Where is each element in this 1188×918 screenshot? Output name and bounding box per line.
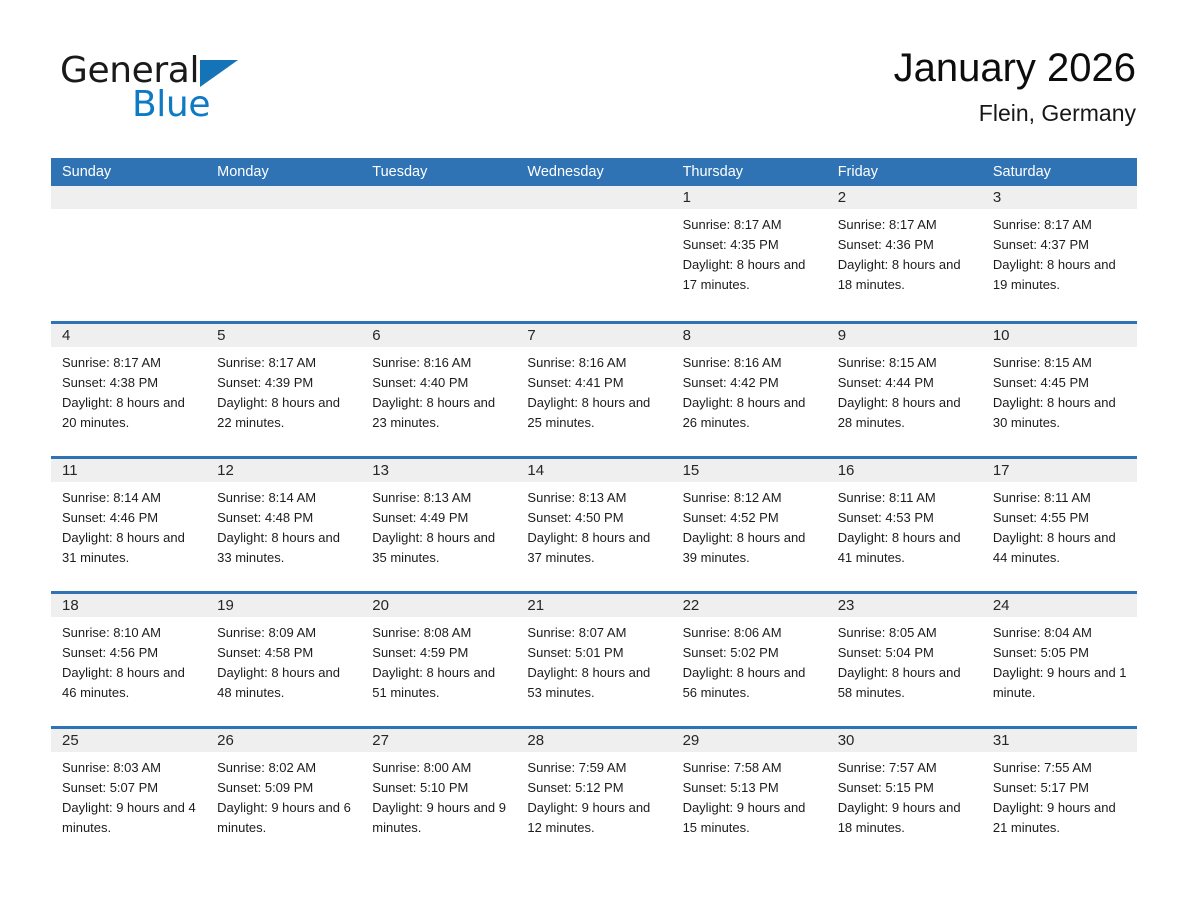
calendar-day-cell-empty bbox=[206, 186, 361, 321]
sunset-text: Sunset: 4:36 PM bbox=[838, 235, 974, 255]
day-number: 20 bbox=[361, 594, 516, 617]
daylight-text: Daylight: 8 hours and 39 minutes. bbox=[683, 528, 819, 568]
day-number: 12 bbox=[206, 459, 361, 482]
daylight-text: Daylight: 9 hours and 9 minutes. bbox=[372, 798, 508, 838]
day-details: Sunrise: 8:14 AMSunset: 4:48 PMDaylight:… bbox=[206, 482, 361, 568]
sunrise-text: Sunrise: 8:14 AM bbox=[217, 488, 353, 508]
sunrise-text: Sunrise: 8:00 AM bbox=[372, 758, 508, 778]
daylight-text: Daylight: 8 hours and 56 minutes. bbox=[683, 663, 819, 703]
day-number: 28 bbox=[516, 729, 671, 752]
day-details: Sunrise: 8:14 AMSunset: 4:46 PMDaylight:… bbox=[51, 482, 206, 568]
daylight-text: Daylight: 8 hours and 23 minutes. bbox=[372, 393, 508, 433]
sunset-text: Sunset: 4:42 PM bbox=[683, 373, 819, 393]
sunrise-text: Sunrise: 8:16 AM bbox=[683, 353, 819, 373]
day-number: 14 bbox=[516, 459, 671, 482]
sunset-text: Sunset: 5:09 PM bbox=[217, 778, 353, 798]
calendar-day-cell[interactable]: 6Sunrise: 8:16 AMSunset: 4:40 PMDaylight… bbox=[361, 324, 516, 456]
day-details: Sunrise: 7:55 AMSunset: 5:17 PMDaylight:… bbox=[982, 752, 1137, 838]
sunrise-text: Sunrise: 8:15 AM bbox=[838, 353, 974, 373]
sunset-text: Sunset: 4:40 PM bbox=[372, 373, 508, 393]
day-number: 8 bbox=[672, 324, 827, 347]
day-number: 4 bbox=[51, 324, 206, 347]
weekday-header-friday: Friday bbox=[827, 158, 982, 186]
day-number: 23 bbox=[827, 594, 982, 617]
sunset-text: Sunset: 5:04 PM bbox=[838, 643, 974, 663]
sunrise-text: Sunrise: 8:14 AM bbox=[62, 488, 198, 508]
sunset-text: Sunset: 5:07 PM bbox=[62, 778, 198, 798]
calendar-day-cell[interactable]: 11Sunrise: 8:14 AMSunset: 4:46 PMDayligh… bbox=[51, 459, 206, 591]
daylight-text: Daylight: 9 hours and 4 minutes. bbox=[62, 798, 198, 838]
weekday-header-wednesday: Wednesday bbox=[516, 158, 671, 186]
sunrise-text: Sunrise: 8:17 AM bbox=[993, 215, 1129, 235]
calendar-week-row: 11Sunrise: 8:14 AMSunset: 4:46 PMDayligh… bbox=[51, 456, 1137, 591]
daylight-text: Daylight: 8 hours and 28 minutes. bbox=[838, 393, 974, 433]
daylight-text: Daylight: 8 hours and 30 minutes. bbox=[993, 393, 1129, 433]
day-details: Sunrise: 8:15 AMSunset: 4:45 PMDaylight:… bbox=[982, 347, 1137, 433]
title-block: January 2026 Flein, Germany bbox=[894, 44, 1136, 127]
weekday-header-sunday: Sunday bbox=[51, 158, 206, 186]
daylight-text: Daylight: 8 hours and 51 minutes. bbox=[372, 663, 508, 703]
sunset-text: Sunset: 5:17 PM bbox=[993, 778, 1129, 798]
day-number: 27 bbox=[361, 729, 516, 752]
sunrise-text: Sunrise: 7:59 AM bbox=[527, 758, 663, 778]
calendar-day-cell[interactable]: 7Sunrise: 8:16 AMSunset: 4:41 PMDaylight… bbox=[516, 324, 671, 456]
day-details: Sunrise: 8:16 AMSunset: 4:40 PMDaylight:… bbox=[361, 347, 516, 433]
calendar-day-cell[interactable]: 31Sunrise: 7:55 AMSunset: 5:17 PMDayligh… bbox=[982, 729, 1137, 861]
daylight-text: Daylight: 9 hours and 21 minutes. bbox=[993, 798, 1129, 838]
page-header: General Blue January 2026 Flein, Germany bbox=[52, 44, 1136, 144]
day-number: 2 bbox=[827, 186, 982, 209]
daylight-text: Daylight: 8 hours and 22 minutes. bbox=[217, 393, 353, 433]
sunrise-text: Sunrise: 8:03 AM bbox=[62, 758, 198, 778]
sunrise-text: Sunrise: 8:15 AM bbox=[993, 353, 1129, 373]
calendar-day-cell-empty bbox=[361, 186, 516, 321]
sunrise-text: Sunrise: 7:58 AM bbox=[683, 758, 819, 778]
calendar-day-cell[interactable]: 26Sunrise: 8:02 AMSunset: 5:09 PMDayligh… bbox=[206, 729, 361, 861]
calendar-day-cell[interactable]: 23Sunrise: 8:05 AMSunset: 5:04 PMDayligh… bbox=[827, 594, 982, 726]
calendar-day-cell[interactable]: 29Sunrise: 7:58 AMSunset: 5:13 PMDayligh… bbox=[672, 729, 827, 861]
calendar-day-cell[interactable]: 12Sunrise: 8:14 AMSunset: 4:48 PMDayligh… bbox=[206, 459, 361, 591]
sunrise-text: Sunrise: 8:11 AM bbox=[838, 488, 974, 508]
sunset-text: Sunset: 5:15 PM bbox=[838, 778, 974, 798]
day-number: 19 bbox=[206, 594, 361, 617]
daylight-text: Daylight: 8 hours and 48 minutes. bbox=[217, 663, 353, 703]
sunrise-text: Sunrise: 8:16 AM bbox=[527, 353, 663, 373]
day-number: 9 bbox=[827, 324, 982, 347]
calendar-day-cell[interactable]: 22Sunrise: 8:06 AMSunset: 5:02 PMDayligh… bbox=[672, 594, 827, 726]
calendar-day-cell[interactable]: 18Sunrise: 8:10 AMSunset: 4:56 PMDayligh… bbox=[51, 594, 206, 726]
day-number: 26 bbox=[206, 729, 361, 752]
sunrise-text: Sunrise: 8:04 AM bbox=[993, 623, 1129, 643]
day-details: Sunrise: 7:59 AMSunset: 5:12 PMDaylight:… bbox=[516, 752, 671, 838]
page-title: January 2026 bbox=[894, 44, 1136, 92]
daylight-text: Daylight: 9 hours and 15 minutes. bbox=[683, 798, 819, 838]
day-details: Sunrise: 8:05 AMSunset: 5:04 PMDaylight:… bbox=[827, 617, 982, 703]
day-number: 30 bbox=[827, 729, 982, 752]
daylight-text: Daylight: 9 hours and 12 minutes. bbox=[527, 798, 663, 838]
day-number: 24 bbox=[982, 594, 1137, 617]
day-number: 6 bbox=[361, 324, 516, 347]
calendar-day-cell[interactable]: 10Sunrise: 8:15 AMSunset: 4:45 PMDayligh… bbox=[982, 324, 1137, 456]
day-details: Sunrise: 8:17 AMSunset: 4:35 PMDaylight:… bbox=[672, 209, 827, 295]
daylight-text: Daylight: 8 hours and 26 minutes. bbox=[683, 393, 819, 433]
day-number: 7 bbox=[516, 324, 671, 347]
calendar-day-cell[interactable]: 25Sunrise: 8:03 AMSunset: 5:07 PMDayligh… bbox=[51, 729, 206, 861]
calendar-day-cell[interactable]: 9Sunrise: 8:15 AMSunset: 4:44 PMDaylight… bbox=[827, 324, 982, 456]
sunset-text: Sunset: 5:13 PM bbox=[683, 778, 819, 798]
calendar-day-cell-empty bbox=[516, 186, 671, 321]
sunset-text: Sunset: 4:58 PM bbox=[217, 643, 353, 663]
day-details: Sunrise: 8:17 AMSunset: 4:38 PMDaylight:… bbox=[51, 347, 206, 433]
sunrise-text: Sunrise: 8:17 AM bbox=[217, 353, 353, 373]
daylight-text: Daylight: 8 hours and 46 minutes. bbox=[62, 663, 198, 703]
weekday-header-monday: Monday bbox=[206, 158, 361, 186]
sunrise-text: Sunrise: 7:57 AM bbox=[838, 758, 974, 778]
calendar-day-cell[interactable]: 2Sunrise: 8:17 AMSunset: 4:36 PMDaylight… bbox=[827, 186, 982, 321]
sunset-text: Sunset: 5:02 PM bbox=[683, 643, 819, 663]
sunrise-text: Sunrise: 8:13 AM bbox=[527, 488, 663, 508]
day-details: Sunrise: 8:04 AMSunset: 5:05 PMDaylight:… bbox=[982, 617, 1137, 703]
day-details: Sunrise: 8:13 AMSunset: 4:49 PMDaylight:… bbox=[361, 482, 516, 568]
day-number: 18 bbox=[51, 594, 206, 617]
day-number: 31 bbox=[982, 729, 1137, 752]
sunrise-text: Sunrise: 8:06 AM bbox=[683, 623, 819, 643]
day-number bbox=[51, 186, 206, 209]
day-details: Sunrise: 8:02 AMSunset: 5:09 PMDaylight:… bbox=[206, 752, 361, 838]
daylight-text: Daylight: 8 hours and 35 minutes. bbox=[372, 528, 508, 568]
sunset-text: Sunset: 5:05 PM bbox=[993, 643, 1129, 663]
day-details: Sunrise: 8:11 AMSunset: 4:55 PMDaylight:… bbox=[982, 482, 1137, 568]
sunset-text: Sunset: 4:44 PM bbox=[838, 373, 974, 393]
calendar-day-cell[interactable]: 14Sunrise: 8:13 AMSunset: 4:50 PMDayligh… bbox=[516, 459, 671, 591]
day-number: 25 bbox=[51, 729, 206, 752]
weekday-header-thursday: Thursday bbox=[672, 158, 827, 186]
day-number: 13 bbox=[361, 459, 516, 482]
sunset-text: Sunset: 4:46 PM bbox=[62, 508, 198, 528]
logo-triangle-icon bbox=[200, 60, 238, 87]
daylight-text: Daylight: 8 hours and 31 minutes. bbox=[62, 528, 198, 568]
day-number: 5 bbox=[206, 324, 361, 347]
daylight-text: Daylight: 8 hours and 37 minutes. bbox=[527, 528, 663, 568]
weekday-header-tuesday: Tuesday bbox=[361, 158, 516, 186]
sunset-text: Sunset: 4:39 PM bbox=[217, 373, 353, 393]
day-number: 21 bbox=[516, 594, 671, 617]
calendar-day-cell[interactable]: 20Sunrise: 8:08 AMSunset: 4:59 PMDayligh… bbox=[361, 594, 516, 726]
day-number: 22 bbox=[672, 594, 827, 617]
calendar-day-cell[interactable]: 28Sunrise: 7:59 AMSunset: 5:12 PMDayligh… bbox=[516, 729, 671, 861]
calendar-day-cell[interactable]: 3Sunrise: 8:17 AMSunset: 4:37 PMDaylight… bbox=[982, 186, 1137, 321]
sunset-text: Sunset: 5:12 PM bbox=[527, 778, 663, 798]
logo-text-blue: Blue bbox=[132, 86, 210, 124]
sunrise-text: Sunrise: 8:10 AM bbox=[62, 623, 198, 643]
sunset-text: Sunset: 4:55 PM bbox=[993, 508, 1129, 528]
sunrise-text: Sunrise: 8:07 AM bbox=[527, 623, 663, 643]
sunrise-text: Sunrise: 8:11 AM bbox=[993, 488, 1129, 508]
daylight-text: Daylight: 9 hours and 18 minutes. bbox=[838, 798, 974, 838]
sunset-text: Sunset: 4:50 PM bbox=[527, 508, 663, 528]
day-details: Sunrise: 8:10 AMSunset: 4:56 PMDaylight:… bbox=[51, 617, 206, 703]
calendar-day-cell[interactable]: 16Sunrise: 8:11 AMSunset: 4:53 PMDayligh… bbox=[827, 459, 982, 591]
day-details: Sunrise: 8:03 AMSunset: 5:07 PMDaylight:… bbox=[51, 752, 206, 838]
sunset-text: Sunset: 4:38 PM bbox=[62, 373, 198, 393]
daylight-text: Daylight: 8 hours and 18 minutes. bbox=[838, 255, 974, 295]
day-number: 11 bbox=[51, 459, 206, 482]
day-details: Sunrise: 8:15 AMSunset: 4:44 PMDaylight:… bbox=[827, 347, 982, 433]
sunset-text: Sunset: 4:56 PM bbox=[62, 643, 198, 663]
day-details: Sunrise: 8:09 AMSunset: 4:58 PMDaylight:… bbox=[206, 617, 361, 703]
calendar-day-cell[interactable]: 21Sunrise: 8:07 AMSunset: 5:01 PMDayligh… bbox=[516, 594, 671, 726]
sunset-text: Sunset: 4:49 PM bbox=[372, 508, 508, 528]
sunrise-text: Sunrise: 7:55 AM bbox=[993, 758, 1129, 778]
day-details: Sunrise: 8:16 AMSunset: 4:42 PMDaylight:… bbox=[672, 347, 827, 433]
day-details: Sunrise: 7:57 AMSunset: 5:15 PMDaylight:… bbox=[827, 752, 982, 838]
calendar-weeks: 1Sunrise: 8:17 AMSunset: 4:35 PMDaylight… bbox=[51, 186, 1137, 861]
day-details: Sunrise: 8:17 AMSunset: 4:36 PMDaylight:… bbox=[827, 209, 982, 295]
calendar-day-cell[interactable]: 4Sunrise: 8:17 AMSunset: 4:38 PMDaylight… bbox=[51, 324, 206, 456]
sunrise-text: Sunrise: 8:13 AM bbox=[372, 488, 508, 508]
weekday-header-saturday: Saturday bbox=[982, 158, 1137, 186]
sunset-text: Sunset: 4:53 PM bbox=[838, 508, 974, 528]
sunrise-text: Sunrise: 8:08 AM bbox=[372, 623, 508, 643]
calendar-day-cell[interactable]: 8Sunrise: 8:16 AMSunset: 4:42 PMDaylight… bbox=[672, 324, 827, 456]
day-number: 10 bbox=[982, 324, 1137, 347]
weekday-header-row: Sunday Monday Tuesday Wednesday Thursday… bbox=[51, 158, 1137, 186]
sunrise-text: Sunrise: 8:02 AM bbox=[217, 758, 353, 778]
calendar-day-cell[interactable]: 19Sunrise: 8:09 AMSunset: 4:58 PMDayligh… bbox=[206, 594, 361, 726]
calendar-day-cell[interactable]: 17Sunrise: 8:11 AMSunset: 4:55 PMDayligh… bbox=[982, 459, 1137, 591]
day-number bbox=[361, 186, 516, 209]
sunrise-text: Sunrise: 8:17 AM bbox=[62, 353, 198, 373]
day-number: 17 bbox=[982, 459, 1137, 482]
calendar-day-cell-empty bbox=[51, 186, 206, 321]
generalblue-logo[interactable]: General Blue bbox=[52, 52, 312, 134]
sunset-text: Sunset: 4:48 PM bbox=[217, 508, 353, 528]
calendar-week-row: 18Sunrise: 8:10 AMSunset: 4:56 PMDayligh… bbox=[51, 591, 1137, 726]
day-number: 1 bbox=[672, 186, 827, 209]
day-number: 29 bbox=[672, 729, 827, 752]
calendar-week-row: 4Sunrise: 8:17 AMSunset: 4:38 PMDaylight… bbox=[51, 321, 1137, 456]
day-details: Sunrise: 8:00 AMSunset: 5:10 PMDaylight:… bbox=[361, 752, 516, 838]
calendar-day-cell[interactable]: 24Sunrise: 8:04 AMSunset: 5:05 PMDayligh… bbox=[982, 594, 1137, 726]
daylight-text: Daylight: 8 hours and 44 minutes. bbox=[993, 528, 1129, 568]
location-subtitle: Flein, Germany bbox=[894, 100, 1136, 127]
day-details: Sunrise: 8:17 AMSunset: 4:37 PMDaylight:… bbox=[982, 209, 1137, 295]
daylight-text: Daylight: 8 hours and 58 minutes. bbox=[838, 663, 974, 703]
day-details: Sunrise: 8:11 AMSunset: 4:53 PMDaylight:… bbox=[827, 482, 982, 568]
day-details: Sunrise: 8:12 AMSunset: 4:52 PMDaylight:… bbox=[672, 482, 827, 568]
day-number: 15 bbox=[672, 459, 827, 482]
daylight-text: Daylight: 8 hours and 20 minutes. bbox=[62, 393, 198, 433]
calendar-week-row: 1Sunrise: 8:17 AMSunset: 4:35 PMDaylight… bbox=[51, 186, 1137, 321]
calendar-page: General Blue January 2026 Flein, Germany… bbox=[0, 0, 1188, 918]
calendar-day-cell[interactable]: 1Sunrise: 8:17 AMSunset: 4:35 PMDaylight… bbox=[672, 186, 827, 321]
sunset-text: Sunset: 4:41 PM bbox=[527, 373, 663, 393]
day-details: Sunrise: 8:17 AMSunset: 4:39 PMDaylight:… bbox=[206, 347, 361, 433]
daylight-text: Daylight: 8 hours and 25 minutes. bbox=[527, 393, 663, 433]
sunrise-text: Sunrise: 8:16 AM bbox=[372, 353, 508, 373]
daylight-text: Daylight: 8 hours and 41 minutes. bbox=[838, 528, 974, 568]
day-details: Sunrise: 7:58 AMSunset: 5:13 PMDaylight:… bbox=[672, 752, 827, 838]
sunset-text: Sunset: 4:59 PM bbox=[372, 643, 508, 663]
day-number bbox=[206, 186, 361, 209]
daylight-text: Daylight: 9 hours and 6 minutes. bbox=[217, 798, 353, 838]
day-details: Sunrise: 8:08 AMSunset: 4:59 PMDaylight:… bbox=[361, 617, 516, 703]
calendar-day-cell[interactable]: 27Sunrise: 8:00 AMSunset: 5:10 PMDayligh… bbox=[361, 729, 516, 861]
daylight-text: Daylight: 8 hours and 53 minutes. bbox=[527, 663, 663, 703]
day-number: 16 bbox=[827, 459, 982, 482]
calendar-table: Sunday Monday Tuesday Wednesday Thursday… bbox=[51, 158, 1137, 861]
calendar-day-cell[interactable]: 15Sunrise: 8:12 AMSunset: 4:52 PMDayligh… bbox=[672, 459, 827, 591]
day-number bbox=[516, 186, 671, 209]
calendar-day-cell[interactable]: 5Sunrise: 8:17 AMSunset: 4:39 PMDaylight… bbox=[206, 324, 361, 456]
daylight-text: Daylight: 8 hours and 19 minutes. bbox=[993, 255, 1129, 295]
day-number: 3 bbox=[982, 186, 1137, 209]
sunrise-text: Sunrise: 8:12 AM bbox=[683, 488, 819, 508]
sunrise-text: Sunrise: 8:17 AM bbox=[838, 215, 974, 235]
calendar-day-cell[interactable]: 30Sunrise: 7:57 AMSunset: 5:15 PMDayligh… bbox=[827, 729, 982, 861]
sunset-text: Sunset: 5:01 PM bbox=[527, 643, 663, 663]
sunset-text: Sunset: 4:45 PM bbox=[993, 373, 1129, 393]
calendar-day-cell[interactable]: 13Sunrise: 8:13 AMSunset: 4:49 PMDayligh… bbox=[361, 459, 516, 591]
day-details: Sunrise: 8:16 AMSunset: 4:41 PMDaylight:… bbox=[516, 347, 671, 433]
calendar-week-row: 25Sunrise: 8:03 AMSunset: 5:07 PMDayligh… bbox=[51, 726, 1137, 861]
daylight-text: Daylight: 9 hours and 1 minute. bbox=[993, 663, 1129, 703]
day-details: Sunrise: 8:13 AMSunset: 4:50 PMDaylight:… bbox=[516, 482, 671, 568]
sunset-text: Sunset: 4:52 PM bbox=[683, 508, 819, 528]
sunrise-text: Sunrise: 8:17 AM bbox=[683, 215, 819, 235]
sunrise-text: Sunrise: 8:05 AM bbox=[838, 623, 974, 643]
sunrise-text: Sunrise: 8:09 AM bbox=[217, 623, 353, 643]
sunset-text: Sunset: 5:10 PM bbox=[372, 778, 508, 798]
daylight-text: Daylight: 8 hours and 17 minutes. bbox=[683, 255, 819, 295]
day-details: Sunrise: 8:07 AMSunset: 5:01 PMDaylight:… bbox=[516, 617, 671, 703]
sunset-text: Sunset: 4:35 PM bbox=[683, 235, 819, 255]
sunset-text: Sunset: 4:37 PM bbox=[993, 235, 1129, 255]
day-details: Sunrise: 8:06 AMSunset: 5:02 PMDaylight:… bbox=[672, 617, 827, 703]
daylight-text: Daylight: 8 hours and 33 minutes. bbox=[217, 528, 353, 568]
